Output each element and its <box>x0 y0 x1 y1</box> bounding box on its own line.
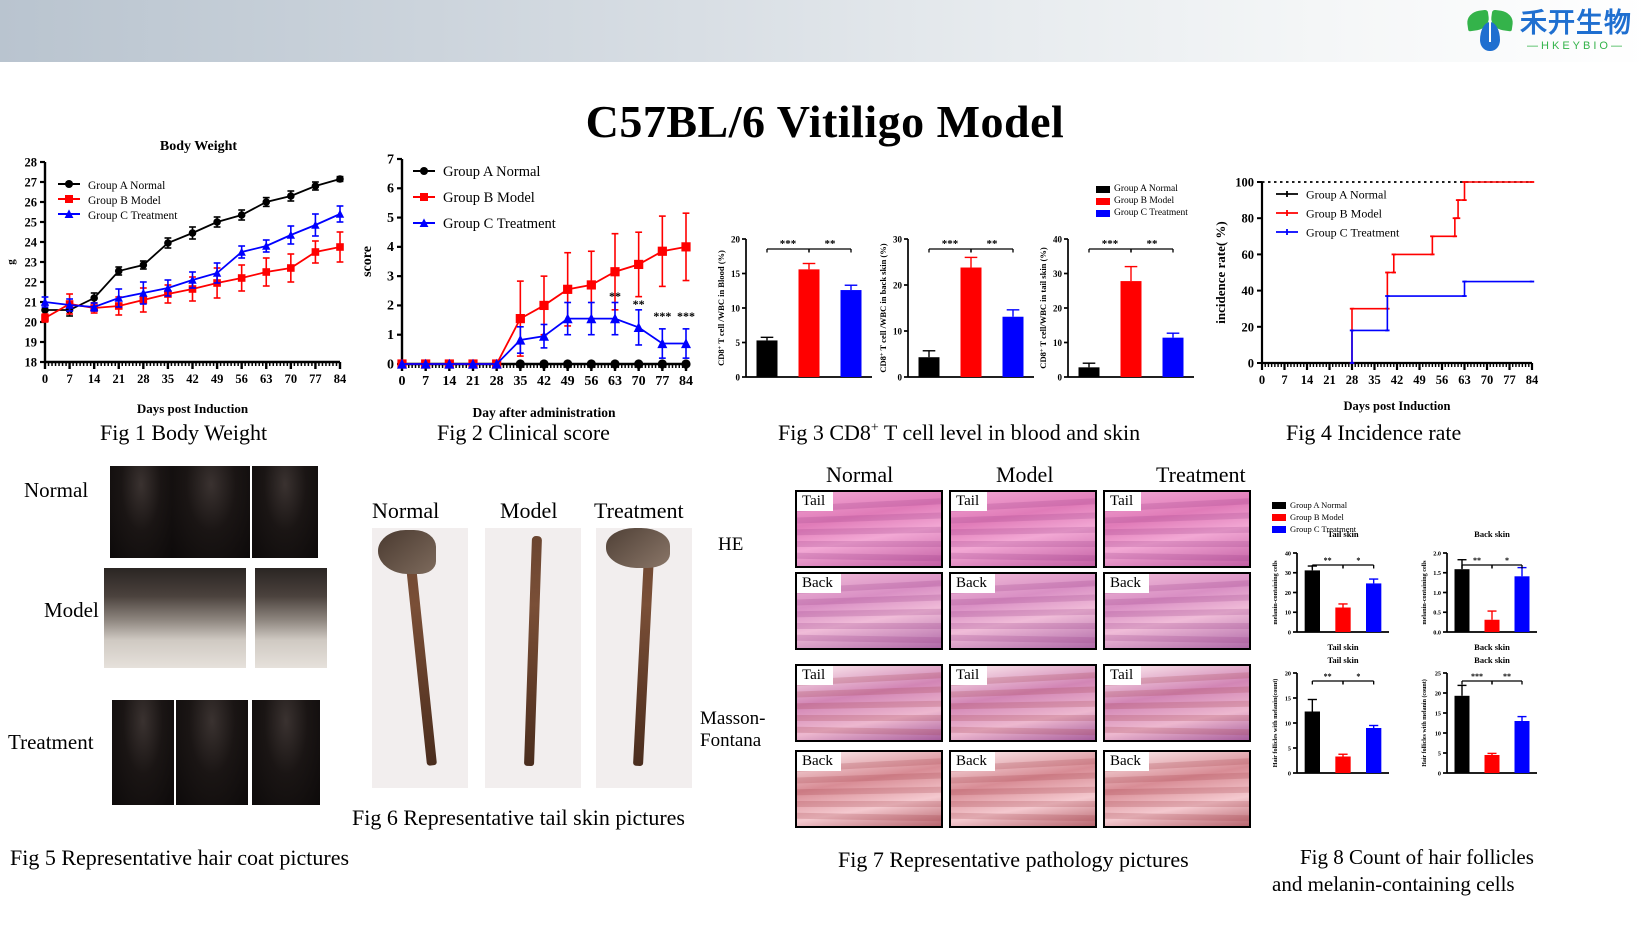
svg-text:***: *** <box>677 309 695 323</box>
svg-text:Group A Normal: Group A Normal <box>443 164 540 180</box>
fig5-photo-normal-3 <box>252 466 318 558</box>
svg-text:30: 30 <box>893 234 903 244</box>
fig7-region-tag-back: Back <box>951 574 995 593</box>
svg-text:incidence rate( %): incidence rate( %) <box>1213 221 1228 324</box>
page-banner: 禾开生物 —HKEYBIO— <box>0 0 1650 62</box>
fig5-photo-treatment-2 <box>176 700 248 805</box>
svg-text:84: 84 <box>679 374 693 389</box>
svg-text:5: 5 <box>1288 745 1291 752</box>
svg-text:28: 28 <box>1346 373 1359 387</box>
fig7-photo-treatment-tail-r3: Tail <box>1103 664 1251 742</box>
svg-text:Days post Induction: Days post Induction <box>137 401 249 416</box>
caption-fig5: Fig 5 Representative hair coat pictures <box>10 845 349 871</box>
svg-text:60: 60 <box>1242 248 1255 262</box>
fig7-photo-normal-tail-r1: Tail <box>795 490 943 568</box>
svg-text:1.0: 1.0 <box>1433 590 1441 597</box>
fig7-tissue-band <box>1105 609 1249 618</box>
fig7-tissue-band <box>951 541 1095 547</box>
svg-text:20: 20 <box>1242 320 1255 334</box>
svg-text:56: 56 <box>584 374 598 389</box>
svg-text:20: 20 <box>25 315 38 329</box>
svg-text:**: ** <box>609 289 621 303</box>
svg-text:28: 28 <box>490 374 504 389</box>
chart-fig3a-blood: 05101520*****CD8+ T cell /WBC in Blood (… <box>716 215 876 385</box>
svg-text:18: 18 <box>25 355 38 369</box>
caption-fig8-line2: and melanin-containing cells <box>1272 872 1515 897</box>
legend-fig3: Group A Normal Group B Model Group C Tre… <box>1096 184 1188 220</box>
svg-text:24: 24 <box>25 235 38 249</box>
svg-text:CD8+ T cell/WBC in tail skin (: CD8+ T cell/WBC in tail skin (%) <box>1038 247 1048 369</box>
svg-text:10: 10 <box>1285 720 1291 727</box>
svg-text:14: 14 <box>1301 373 1314 387</box>
svg-text:70: 70 <box>285 372 298 386</box>
svg-text:35: 35 <box>1368 373 1381 387</box>
fig6-column-label-treatment: Treatment <box>594 498 684 524</box>
svg-text:20: 20 <box>1285 590 1291 597</box>
svg-text:42: 42 <box>537 374 551 389</box>
fig7-tissue-band <box>951 594 1095 605</box>
svg-text:100: 100 <box>1235 176 1254 190</box>
fig7-tissue-band <box>1105 686 1249 697</box>
svg-text:40: 40 <box>1242 284 1255 298</box>
fig5-row-label-normal: Normal <box>24 478 88 503</box>
svg-text:5: 5 <box>1438 750 1441 757</box>
svg-text:25: 25 <box>25 215 38 229</box>
fig5-photo-model-1 <box>104 568 174 668</box>
svg-text:14: 14 <box>88 372 101 386</box>
svg-text:***: *** <box>653 309 671 323</box>
fig7-tissue-band <box>1105 701 1249 710</box>
svg-text:70: 70 <box>1481 373 1494 387</box>
svg-text:Day after administration: Day after administration <box>473 405 616 420</box>
chart-fig3b-back-skin: 0102030*****CD8+ T cell /WBC in back ski… <box>878 215 1038 385</box>
svg-text:49: 49 <box>211 372 224 386</box>
svg-text:2.0: 2.0 <box>1433 550 1441 557</box>
leaf-logo-icon <box>1467 9 1513 53</box>
chart-fig3c-tail-skin: 010203040*****CD8+ T cell/WBC in tail sk… <box>1038 215 1198 385</box>
svg-text:42: 42 <box>1391 373 1404 387</box>
fig7-tissue-band <box>797 635 941 644</box>
svg-text:**: ** <box>1473 556 1481 565</box>
svg-text:Group C Treatment: Group C Treatment <box>88 210 178 222</box>
fig7-tissue-band <box>951 787 1095 796</box>
fig7-tissue-band <box>1105 635 1249 644</box>
fig7-tissue-band <box>797 512 941 523</box>
fig7-photo-treatment-tail-r1: Tail <box>1103 490 1251 568</box>
svg-text:0: 0 <box>1259 373 1265 387</box>
fig5-photo-treatment-1 <box>112 700 174 805</box>
svg-text:0.0: 0.0 <box>1433 629 1441 636</box>
svg-text:10: 10 <box>1285 610 1291 617</box>
fig7-tissue-band <box>797 553 941 562</box>
svg-text:**: ** <box>1503 672 1511 681</box>
svg-text:77: 77 <box>309 372 322 386</box>
fig7-tissue-band <box>951 527 1095 536</box>
fig7-tissue-band <box>951 715 1095 721</box>
fig5-photo-normal-2 <box>172 466 250 558</box>
fig6-column-label-model: Model <box>500 498 557 524</box>
fig7-tissue-band <box>1105 623 1249 629</box>
svg-text:7: 7 <box>66 372 72 386</box>
fig5-photo-treatment-3 <box>252 700 320 805</box>
svg-text:63: 63 <box>260 372 273 386</box>
chart-fig8b-back-melanin-cells: 0.00.51.01.52.0***melanin-containing cel… <box>1418 527 1543 652</box>
chart-fig4-incidence-rate: 020406080100071421283542495663707784inci… <box>1210 168 1540 413</box>
svg-text:0: 0 <box>1288 770 1291 777</box>
fig7-tissue-band <box>951 512 1095 523</box>
fig7-region-tag-tail: Tail <box>951 492 987 511</box>
svg-text:***: *** <box>780 238 797 250</box>
fig7-tissue-band <box>797 686 941 697</box>
svg-text:28: 28 <box>25 155 38 169</box>
svg-text:40: 40 <box>1053 234 1063 244</box>
svg-text:**: ** <box>987 238 999 250</box>
svg-text:0: 0 <box>1288 629 1291 636</box>
svg-text:**: ** <box>1147 238 1159 250</box>
svg-text:63: 63 <box>1458 373 1471 387</box>
svg-text:Group A Normal: Group A Normal <box>88 180 165 192</box>
svg-text:5: 5 <box>387 211 394 226</box>
svg-text:Hair follicles with melanin (c: Hair follicles with melanin (count) <box>1421 679 1428 767</box>
fig7-tissue-band <box>951 813 1095 822</box>
svg-text:CD8+ T cell /WBC in Blood (%): CD8+ T cell /WBC in Blood (%) <box>716 250 726 366</box>
svg-text:21: 21 <box>113 372 126 386</box>
fig7-region-tag-back: Back <box>797 574 841 593</box>
caption-fig8-line1: Fig 8 Count of hair follicles <box>1300 845 1534 870</box>
fig6-tail-shape <box>633 536 655 766</box>
svg-text:22: 22 <box>25 275 38 289</box>
svg-text:Group A Normal: Group A Normal <box>1306 188 1387 202</box>
svg-text:Tail skin: Tail skin <box>1327 642 1358 652</box>
svg-text:melanin-containing cells: melanin-containing cells <box>1272 560 1279 625</box>
svg-text:3: 3 <box>387 269 394 284</box>
fig7-tissue-band <box>951 772 1095 783</box>
svg-text:5: 5 <box>736 338 741 348</box>
fig6-mouse-body <box>606 528 670 568</box>
svg-text:0: 0 <box>1248 357 1254 371</box>
fig7-region-tag-tail: Tail <box>797 666 833 685</box>
fig7-tissue-band <box>1105 594 1249 605</box>
fig7-tissue-band <box>797 594 941 605</box>
caption-fig4: Fig 4 Incidence rate <box>1286 420 1461 446</box>
fig7-tissue-band <box>951 635 1095 644</box>
svg-text:Back skin: Back skin <box>1474 529 1510 539</box>
svg-text:Group B Model: Group B Model <box>443 190 535 206</box>
fig7-photo-normal-back-r4: Back <box>795 750 943 828</box>
svg-text:Group B Model: Group B Model <box>88 195 161 207</box>
svg-text:10: 10 <box>1053 338 1063 348</box>
svg-text:15: 15 <box>1435 710 1441 717</box>
svg-text:2: 2 <box>387 299 394 314</box>
svg-text:40: 40 <box>1285 550 1291 557</box>
svg-text:49: 49 <box>1413 373 1426 387</box>
svg-text:15: 15 <box>731 269 741 279</box>
fig7-tissue-band <box>951 553 1095 562</box>
fig7-column-label-treatment: Treatment <box>1156 462 1246 488</box>
svg-text:*: * <box>1356 672 1360 681</box>
svg-text:Days post Induction: Days post Induction <box>1344 399 1451 413</box>
fig7-region-tag-back: Back <box>797 752 841 771</box>
fig6-column-label-normal: Normal <box>372 498 439 524</box>
caption-fig6: Fig 6 Representative tail skin pictures <box>352 805 685 831</box>
svg-text:0: 0 <box>736 372 741 382</box>
fig7-photo-model-tail-r3: Tail <box>949 664 1097 742</box>
fig7-stain-label-masson-fontana: Masson-Fontana <box>700 708 774 752</box>
fig7-photo-model-tail-r1: Tail <box>949 490 1097 568</box>
svg-text:Body Weight: Body Weight <box>160 139 237 154</box>
svg-text:77: 77 <box>655 374 669 389</box>
svg-text:35: 35 <box>162 372 175 386</box>
fig7-tissue-band <box>1105 715 1249 721</box>
svg-text:28: 28 <box>137 372 150 386</box>
svg-text:20: 20 <box>1435 690 1441 697</box>
svg-text:42: 42 <box>186 372 199 386</box>
svg-text:1: 1 <box>387 328 394 343</box>
fig7-tissue-band <box>797 623 941 629</box>
svg-text:0: 0 <box>42 372 48 386</box>
fig7-tissue-band <box>1105 787 1249 796</box>
svg-text:84: 84 <box>1526 373 1539 387</box>
svg-text:56: 56 <box>235 372 248 386</box>
brand-name-en: —HKEYBIO— <box>1527 40 1625 52</box>
brand-name-cn: 禾开生物 <box>1520 10 1632 38</box>
fig7-tissue-band <box>1105 541 1249 547</box>
fig5-photo-normal-1 <box>110 466 172 558</box>
fig7-tissue-band <box>1105 772 1249 783</box>
svg-text:Back skin: Back skin <box>1474 642 1510 652</box>
fig7-photo-normal-back-r2: Back <box>795 572 943 650</box>
svg-text:**: ** <box>1324 556 1332 565</box>
fig7-tissue-band <box>797 609 941 618</box>
fig7-region-tag-tail: Tail <box>951 666 987 685</box>
fig7-photo-model-back-r4: Back <box>949 750 1097 828</box>
svg-text:0: 0 <box>399 374 406 389</box>
svg-text:0: 0 <box>1058 372 1063 382</box>
fig7-photo-treatment-back-r2: Back <box>1103 572 1251 650</box>
svg-text:CD8+ T cell /WBC in back skin: CD8+ T cell /WBC in back skin (%) <box>878 243 888 372</box>
svg-text:melanin-containing cells: melanin-containing cells <box>1421 560 1428 625</box>
svg-text:20: 20 <box>1053 303 1063 313</box>
fig7-column-label-normal: Normal <box>826 462 893 488</box>
fig7-tissue-band <box>797 527 941 536</box>
svg-text:26: 26 <box>25 195 38 209</box>
svg-text:g: g <box>5 259 17 265</box>
fig7-photo-treatment-back-r4: Back <box>1103 750 1251 828</box>
svg-text:Hair follicles with melanin(co: Hair follicles with melanin(count) <box>1272 679 1279 768</box>
svg-text:**: ** <box>1324 672 1332 681</box>
svg-text:14: 14 <box>442 374 456 389</box>
brand-logo: 禾开生物 —HKEYBIO— <box>1467 6 1632 56</box>
svg-text:20: 20 <box>1285 670 1291 677</box>
svg-text:Group B Model: Group B Model <box>1306 207 1383 221</box>
chart-fig8d-back-follicles: 0510152025*****Hair follicles with melan… <box>1418 655 1543 783</box>
fig7-tissue-band <box>797 701 941 710</box>
svg-text:***: *** <box>1102 238 1119 250</box>
svg-text:21: 21 <box>25 295 38 309</box>
fig7-tissue-band <box>951 623 1095 629</box>
fig7-tissue-band <box>1105 527 1249 536</box>
fig7-tissue-band <box>797 727 941 736</box>
svg-text:7: 7 <box>422 374 429 389</box>
fig7-region-tag-back: Back <box>1105 752 1149 771</box>
svg-text:23: 23 <box>25 255 38 269</box>
fig7-tissue-band <box>1105 512 1249 523</box>
fig7-tissue-band <box>1105 801 1249 807</box>
svg-text:56: 56 <box>1436 373 1449 387</box>
svg-text:*: * <box>1356 556 1360 565</box>
fig7-stain-label-he: HE <box>718 534 743 556</box>
caption-fig2: Fig 2 Clinical score <box>437 420 610 446</box>
svg-text:0: 0 <box>898 372 903 382</box>
svg-text:***: *** <box>942 238 959 250</box>
svg-text:15: 15 <box>1285 695 1291 702</box>
fig7-tissue-band <box>951 609 1095 618</box>
svg-text:0: 0 <box>1438 770 1441 777</box>
fig7-photo-normal-tail-r3: Tail <box>795 664 943 742</box>
fig6-photo-normal <box>372 528 468 788</box>
svg-text:0: 0 <box>387 357 394 372</box>
fig6-photo-model <box>485 528 581 788</box>
svg-text:10: 10 <box>893 326 903 336</box>
chart-fig1-body-weight: 1819202122232425262728071421283542495663… <box>0 138 350 416</box>
svg-text:21: 21 <box>1323 373 1336 387</box>
svg-text:**: ** <box>633 297 645 311</box>
svg-text:Back skin: Back skin <box>1474 655 1510 665</box>
fig5-photo-model-3 <box>255 568 327 668</box>
svg-text:35: 35 <box>513 374 527 389</box>
svg-text:20: 20 <box>731 234 741 244</box>
svg-text:4: 4 <box>387 240 394 255</box>
svg-text:20: 20 <box>893 280 903 290</box>
svg-text:19: 19 <box>25 335 38 349</box>
svg-text:7: 7 <box>387 152 394 167</box>
fig7-tissue-band <box>1105 553 1249 562</box>
fig5-photo-model-2 <box>172 568 246 668</box>
svg-text:10: 10 <box>731 303 741 313</box>
fig6-mouse-body <box>378 530 436 574</box>
fig7-column-label-model: Model <box>996 462 1053 488</box>
svg-text:49: 49 <box>561 374 575 389</box>
svg-text:0.5: 0.5 <box>1433 610 1441 617</box>
fig7-tissue-band <box>797 772 941 783</box>
svg-text:84: 84 <box>334 372 347 386</box>
svg-text:25: 25 <box>1435 670 1441 677</box>
svg-text:score: score <box>360 246 375 277</box>
chart-fig8c-tail-follicles: 05101520***Hair follicles with melanin(c… <box>1270 655 1395 783</box>
svg-text:21: 21 <box>466 374 480 389</box>
svg-text:Tail skin: Tail skin <box>1327 529 1358 539</box>
fig7-tissue-band <box>797 813 941 822</box>
chart-fig2-clinical-score: 01234567071421283542495663707784scoreDay… <box>358 145 698 420</box>
svg-text:70: 70 <box>632 374 646 389</box>
fig7-region-tag-tail: Tail <box>1105 666 1141 685</box>
caption-fig3: Fig 3 CD8+ T cell level in blood and ski… <box>778 420 1140 446</box>
svg-text:**: ** <box>825 238 837 250</box>
fig7-region-tag-tail: Tail <box>797 492 833 511</box>
fig7-tissue-band <box>797 787 941 796</box>
fig7-tissue-band <box>797 801 941 807</box>
fig7-tissue-band <box>951 701 1095 710</box>
caption-fig1: Fig 1 Body Weight <box>100 420 267 446</box>
svg-text:*: * <box>1505 556 1509 565</box>
svg-text:30: 30 <box>1285 570 1291 577</box>
svg-text:Group C Treatment: Group C Treatment <box>1306 226 1400 240</box>
fig6-photo-treatment <box>596 528 692 788</box>
fig7-tissue-band <box>1105 727 1249 736</box>
svg-text:Tail skin: Tail skin <box>1327 655 1358 665</box>
caption-fig7: Fig 7 Representative pathology pictures <box>838 847 1189 873</box>
fig5-row-label-treatment: Treatment <box>8 730 94 755</box>
fig7-tissue-band <box>951 686 1095 697</box>
svg-text:1.5: 1.5 <box>1433 570 1441 577</box>
svg-text:Group C Treatment: Group C Treatment <box>443 216 556 232</box>
fig7-region-tag-back: Back <box>951 752 995 771</box>
fig7-region-tag-back: Back <box>1105 574 1149 593</box>
svg-text:27: 27 <box>25 175 38 189</box>
svg-text:10: 10 <box>1435 730 1441 737</box>
svg-text:30: 30 <box>1053 269 1063 279</box>
svg-text:6: 6 <box>387 182 394 197</box>
fig7-tissue-band <box>797 715 941 721</box>
fig7-photo-model-back-r2: Back <box>949 572 1097 650</box>
fig5-row-label-model: Model <box>44 598 99 623</box>
fig7-tissue-band <box>1105 813 1249 822</box>
svg-text:63: 63 <box>608 374 622 389</box>
fig7-region-tag-tail: Tail <box>1105 492 1141 511</box>
svg-text:***: *** <box>1471 672 1483 681</box>
fig6-tail-shape <box>524 536 542 766</box>
svg-text:7: 7 <box>1281 373 1287 387</box>
fig7-tissue-band <box>797 541 941 547</box>
svg-text:80: 80 <box>1242 212 1255 226</box>
fig7-tissue-band <box>951 801 1095 807</box>
fig7-tissue-band <box>951 727 1095 736</box>
chart-fig8a-tail-melanin-cells: 010203040***melanin-containing cellsTail… <box>1270 527 1395 652</box>
svg-text:77: 77 <box>1503 373 1516 387</box>
